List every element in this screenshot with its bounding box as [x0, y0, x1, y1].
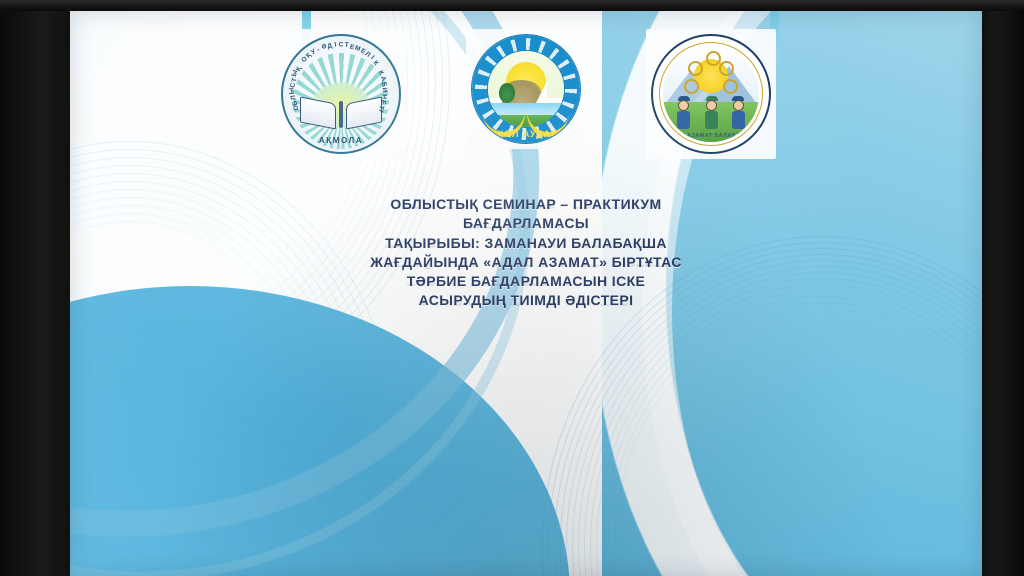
projector-screen-photo: ОБЛЫСТЫҚ ОҚУ-ӘДІСТЕМЕЛІК КАБИНЕТІ АҚМОЛА	[0, 0, 1024, 576]
emblem-inner-scene: АДАЛ АЗАМАТ БАЛАБАҚША	[663, 46, 759, 142]
logo-card-balabaqsha: АДАЛ АЗАМАТ БАЛАБАҚША	[646, 29, 776, 159]
emblem-bottom-text: АҚМОЛА	[283, 136, 399, 145]
child-head	[678, 100, 689, 111]
title-line: ЖАҒДАЙЫНДА «АДАЛ АЗАМАТ» БІРТҰТАСЖАҒДАЙЫ…	[70, 255, 982, 269]
child-head	[706, 100, 717, 111]
logo-row: ОБЛЫСТЫҚ ОҚУ-ӘДІСТЕМЕЛІК КАБИНЕТІ АҚМОЛА	[70, 29, 982, 167]
emblem-ring-char: С	[339, 42, 344, 49]
scene-child-middle	[704, 96, 719, 129]
title-line-text: ЖАҒДАЙЫНДА «АДАЛ АЗАМАТ» БІРТҰТАС	[70, 255, 982, 269]
title-line-text: ТӘРБИЕ БАҒДАРЛАМАСЫН ІСКЕ	[70, 274, 982, 288]
title-line-text: ТАҚЫРЫБЫ: ЗАМАНАУИ БАЛАБАҚША	[70, 236, 982, 250]
emblem-ring-char: Н	[380, 94, 387, 99]
open-book-sunrise-emblem-icon: ОБЛЫСТЫҚ ОҚУ-ӘДІСТЕМЕЛІК КАБИНЕТІ АҚМОЛА	[281, 34, 401, 154]
ornament-dot-5	[706, 51, 721, 66]
emblem-bottom-text: АДАЛ АЗАМАТ БАЛАБАҚША	[663, 133, 759, 139]
child-body	[732, 111, 745, 129]
ornament-dot-3	[684, 79, 699, 94]
title-line-text: ОБЛЫСТЫҚ СЕМИНАР – ПРАКТИКУМ	[70, 197, 982, 211]
title-line-text: БАҒДАРЛАМАСЫ	[70, 216, 982, 230]
emblem-ring-char: С	[290, 83, 297, 88]
title-line-text: АСЫРУДЫҢ ТИІМДІ ӘДІСТЕРІ	[70, 293, 982, 307]
title-line: ОБЛЫСТЫҚ СЕМИНАР – ПРАКТИКУМОБЛЫСТЫҚ СЕМ…	[70, 197, 982, 211]
ornament-dot-4	[723, 79, 738, 94]
screen-bezel-top	[0, 0, 1024, 11]
scene-child-left	[676, 96, 691, 129]
presentation-slide: ОБЛЫСТЫҚ ОҚУ-ӘДІСТЕМЕЛІК КАБИНЕТІ АҚМОЛА	[70, 11, 982, 576]
screen-bezel-right	[982, 0, 1024, 576]
emblem-ring-char: И	[381, 88, 388, 93]
akkol-district-coat-of-arms-icon: АҚКӨЛ АУДАНЫ	[471, 34, 581, 144]
title-line: АСЫРУДЫҢ ТИІМДІ ӘДІСТЕРІАСЫРУДЫҢ ТИІМДІ …	[70, 293, 982, 307]
emblem-ring-char: І	[334, 42, 337, 49]
title-line: ТӘРБИЕ БАҒДАРЛАМАСЫН ІСКЕТӘРБИЕ БАҒДАРЛА…	[70, 274, 982, 288]
children-dancing-mountains-emblem-icon: АДАЛ АЗАМАТ БАЛАБАҚША	[651, 34, 771, 154]
logo-card-akkol: АҚКӨЛ АУДАНЫ	[466, 29, 586, 149]
slide-title-block: ОБЛЫСТЫҚ СЕМИНАР – ПРАКТИКУМОБЛЫСТЫҚ СЕМ…	[70, 197, 982, 313]
title-line: ТАҚЫРЫБЫ: ЗАМАНАУИ БАЛАБАҚШАТАҚЫРЫБЫ: ЗА…	[70, 236, 982, 250]
emblem-ring-char: Ы	[288, 87, 295, 94]
emblem-ring-char: Е	[379, 99, 387, 105]
emblem-ring-text: ОБЛЫСТЫҚ ОҚУ-ӘДІСТЕМЕЛІК КАБИНЕТІ	[283, 36, 399, 152]
title-line: БАҒДАРЛАМАСЫБАҒДАРЛАМАСЫ	[70, 216, 982, 230]
scene-child-right	[731, 96, 746, 129]
screen-bezel-left	[0, 0, 70, 576]
child-body	[705, 111, 718, 129]
emblem-bottom-text: АҚКӨЛ АУДАНЫ	[472, 129, 580, 139]
emblem-ring-char: Д	[326, 42, 332, 50]
child-head	[733, 100, 744, 111]
child-body	[677, 111, 690, 129]
logo-card-oblystyq: ОБЛЫСТЫҚ ОҚУ-ӘДІСТЕМЕЛІК КАБИНЕТІ АҚМОЛА	[276, 29, 406, 159]
